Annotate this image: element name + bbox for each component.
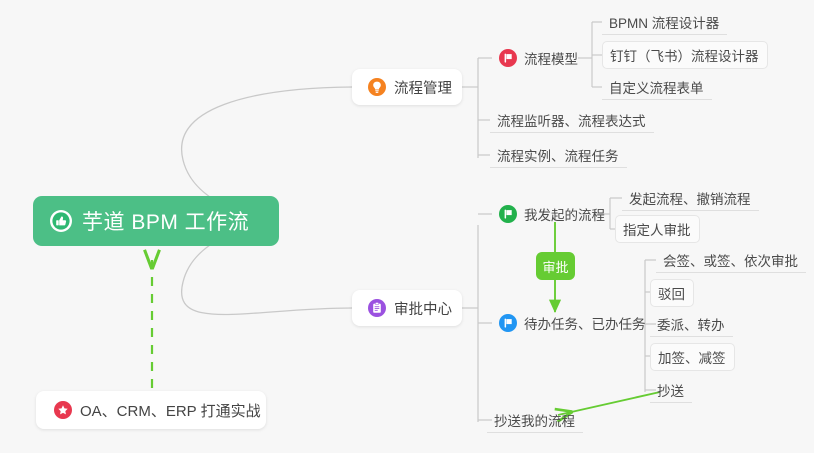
leaf-custom-form[interactable]: 自定义流程表单 [602,74,712,100]
flag-icon [499,205,517,223]
badge-label: 审批 [542,257,568,276]
leaf-label: 钉钉（飞书）流程设计器 [610,45,759,65]
leaf-label: 委派、转办 [657,314,725,334]
leaf-assignee-approval[interactable]: 指定人审批 [615,215,700,243]
node-process-model[interactable]: 流程模型 [492,45,586,71]
node-my-started-processes[interactable]: 我发起的流程 [492,201,613,227]
leaf-add-remove-sign[interactable]: 加签、减签 [650,343,735,371]
flag-icon [499,49,517,67]
leaf-label: 抄送我的流程 [494,410,575,430]
node-label: 审批中心 [394,298,452,319]
node-label: 我发起的流程 [524,204,605,224]
leaf-label: 流程实例、流程任务 [497,145,619,165]
leaf-countersign[interactable]: 会签、或签、依次审批 [656,247,806,273]
clipboard-icon [368,299,386,317]
thumbs-up-icon [50,210,72,232]
node-approval-center[interactable]: 审批中心 [352,290,462,326]
node-label: OA、CRM、ERP 打通实战 [80,400,261,421]
node-label: 流程模型 [524,48,578,68]
leaf-dingtalk-designer[interactable]: 钉钉（飞书）流程设计器 [602,41,768,69]
node-label: 待办任务、已办任务 [524,313,646,333]
leaf-bpmn-designer[interactable]: BPMN 流程设计器 [602,9,727,35]
leaf-label: 自定义流程表单 [609,77,704,97]
node-todo-done-tasks[interactable]: 待办任务、已办任务 [492,310,654,336]
root-node[interactable]: 芋道 BPM 工作流 [33,196,279,246]
node-oa-crm-erp-integration[interactable]: OA、CRM、ERP 打通实战 [36,391,266,429]
leaf-label: 抄送 [657,380,684,400]
leaf-label: 会签、或签、依次审批 [663,250,798,270]
leaf-delegate-transfer[interactable]: 委派、转办 [650,311,733,337]
leaf-label: 指定人审批 [623,219,691,239]
leaf-start-cancel-process[interactable]: 发起流程、撤销流程 [622,185,759,211]
leaf-label: 加签、减签 [658,347,726,367]
node-process-management[interactable]: 流程管理 [352,69,462,105]
leaf-label: BPMN 流程设计器 [609,12,719,32]
lightbulb-icon [368,78,386,96]
star-icon [54,401,72,419]
mindmap-canvas: 芋道 BPM 工作流 流程管理 流程模型 BPMN 流程设计器 钉钉（飞书）流程… [0,0,814,453]
flag-icon [499,314,517,332]
leaf-label: 流程监听器、流程表达式 [497,110,646,130]
node-label: 流程管理 [394,77,452,98]
leaf-process-instance-task[interactable]: 流程实例、流程任务 [490,142,627,168]
leaf-label: 驳回 [658,283,685,303]
leaf-reject[interactable]: 驳回 [650,279,694,307]
badge-approval[interactable]: 审批 [536,252,575,280]
leaf-process-listener-expression[interactable]: 流程监听器、流程表达式 [490,107,654,133]
root-label: 芋道 BPM 工作流 [82,206,249,236]
leaf-cc-to-me[interactable]: 抄送我的流程 [487,407,583,433]
leaf-cc[interactable]: 抄送 [650,377,692,403]
leaf-label: 发起流程、撤销流程 [629,188,751,208]
